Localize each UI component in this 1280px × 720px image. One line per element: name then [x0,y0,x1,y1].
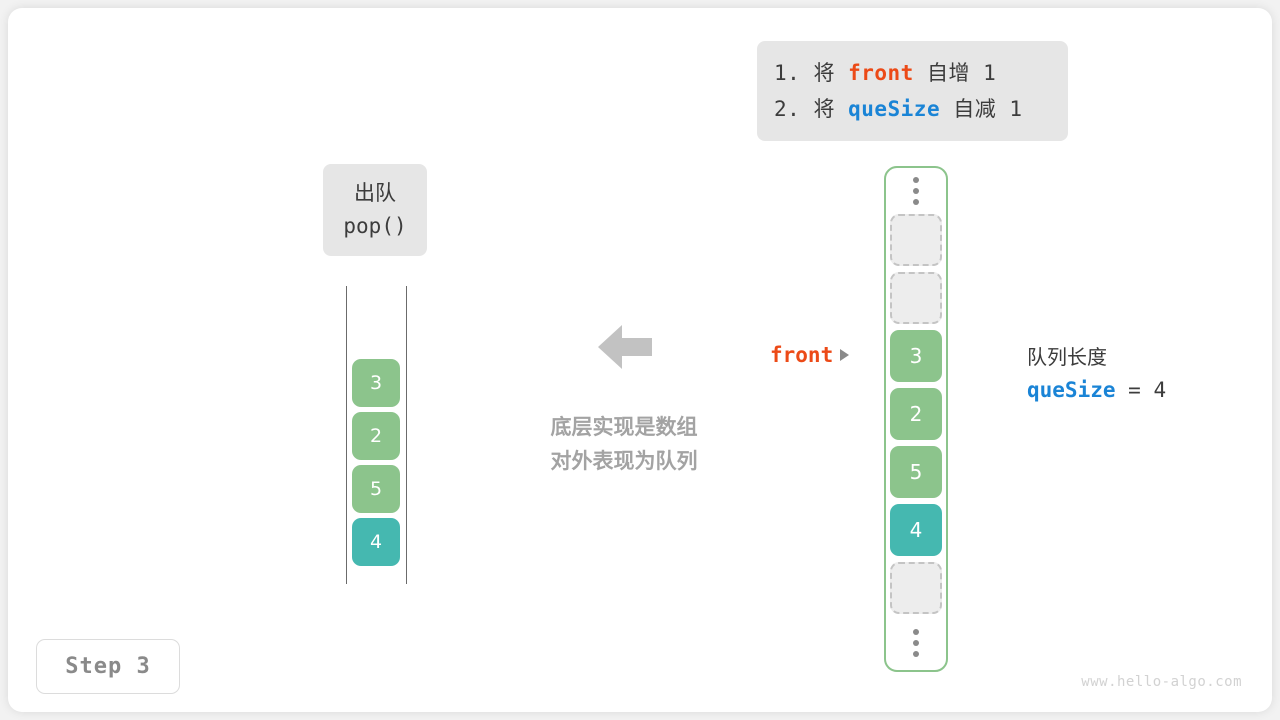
abstract-queue-cells: 3254 [352,354,400,566]
instruction-2-text-before: 将 [800,97,848,121]
dot [913,640,919,646]
instruction-1-keyword: front [848,61,914,85]
dot [913,177,919,183]
pop-operation-label: 出队 pop() [323,164,427,256]
abstract-queue-cell: 5 [352,465,400,513]
step-badge: Step 3 [36,639,180,694]
caption-line-1: 底层实现是数组 [506,410,742,444]
instruction-2-keyword: queSize [848,97,940,121]
dot [913,629,919,635]
instruction-1-text-after: 自增 1 [914,61,996,85]
instruction-callout: 1. 将 front 自增 1 2. 将 queSize 自减 1 [757,41,1068,141]
dot [913,188,919,194]
instruction-1-text-before: 将 [800,61,848,85]
instruction-2-text-after: 自减 1 [940,97,1022,121]
quesize-equals: = 4 [1116,378,1167,402]
queue-size-title: 队列长度 [1027,342,1166,372]
front-pointer-label: front [770,343,833,367]
instruction-line-2: 2. 将 queSize 自减 1 [774,91,1068,127]
array-cell-filled: 3 [890,330,942,382]
diagram-canvas: 1. 将 front 自增 1 2. 将 queSize 自减 1 出队 pop… [0,0,1280,720]
arrow-right-icon [840,349,849,361]
dot [913,199,919,205]
array-container: 3254 [884,166,948,672]
queue-size-note: 队列长度 queSize = 4 [1027,342,1166,408]
queue-rail-right [406,286,407,584]
front-pointer: front [770,343,849,367]
abstract-queue-cell: 4 [352,518,400,566]
array-cell-filled: 2 [890,388,942,440]
abstract-queue-column: 3254 [346,286,408,584]
pop-label-line-1: 出队 [323,177,427,210]
caption-line-2: 对外表现为队列 [506,444,742,478]
arrow-left-icon [596,320,654,374]
array-cell-empty [890,272,942,324]
instruction-1-index: 1. [774,61,800,85]
array-cell-empty [890,562,942,614]
instruction-2-index: 2. [774,97,800,121]
array-cell-filled: 5 [890,446,942,498]
vertical-ellipsis-icon-top [913,168,919,214]
pop-label-line-2: pop() [323,210,427,243]
watermark: www.hello-algo.com [1081,674,1242,690]
abstract-queue-cell: 2 [352,412,400,460]
array-cell-filled: 4 [890,504,942,556]
array-cell-empty [890,214,942,266]
quesize-keyword: queSize [1027,378,1116,402]
queue-size-value: queSize = 4 [1027,372,1166,408]
queue-rail-left [346,286,347,584]
instruction-line-1: 1. 将 front 自增 1 [774,55,1068,91]
abstract-queue-cell: 3 [352,359,400,407]
array-cells: 3254 [890,214,942,620]
vertical-ellipsis-icon-bottom [913,620,919,666]
implementation-caption: 底层实现是数组 对外表现为队列 [506,410,742,478]
dot [913,651,919,657]
